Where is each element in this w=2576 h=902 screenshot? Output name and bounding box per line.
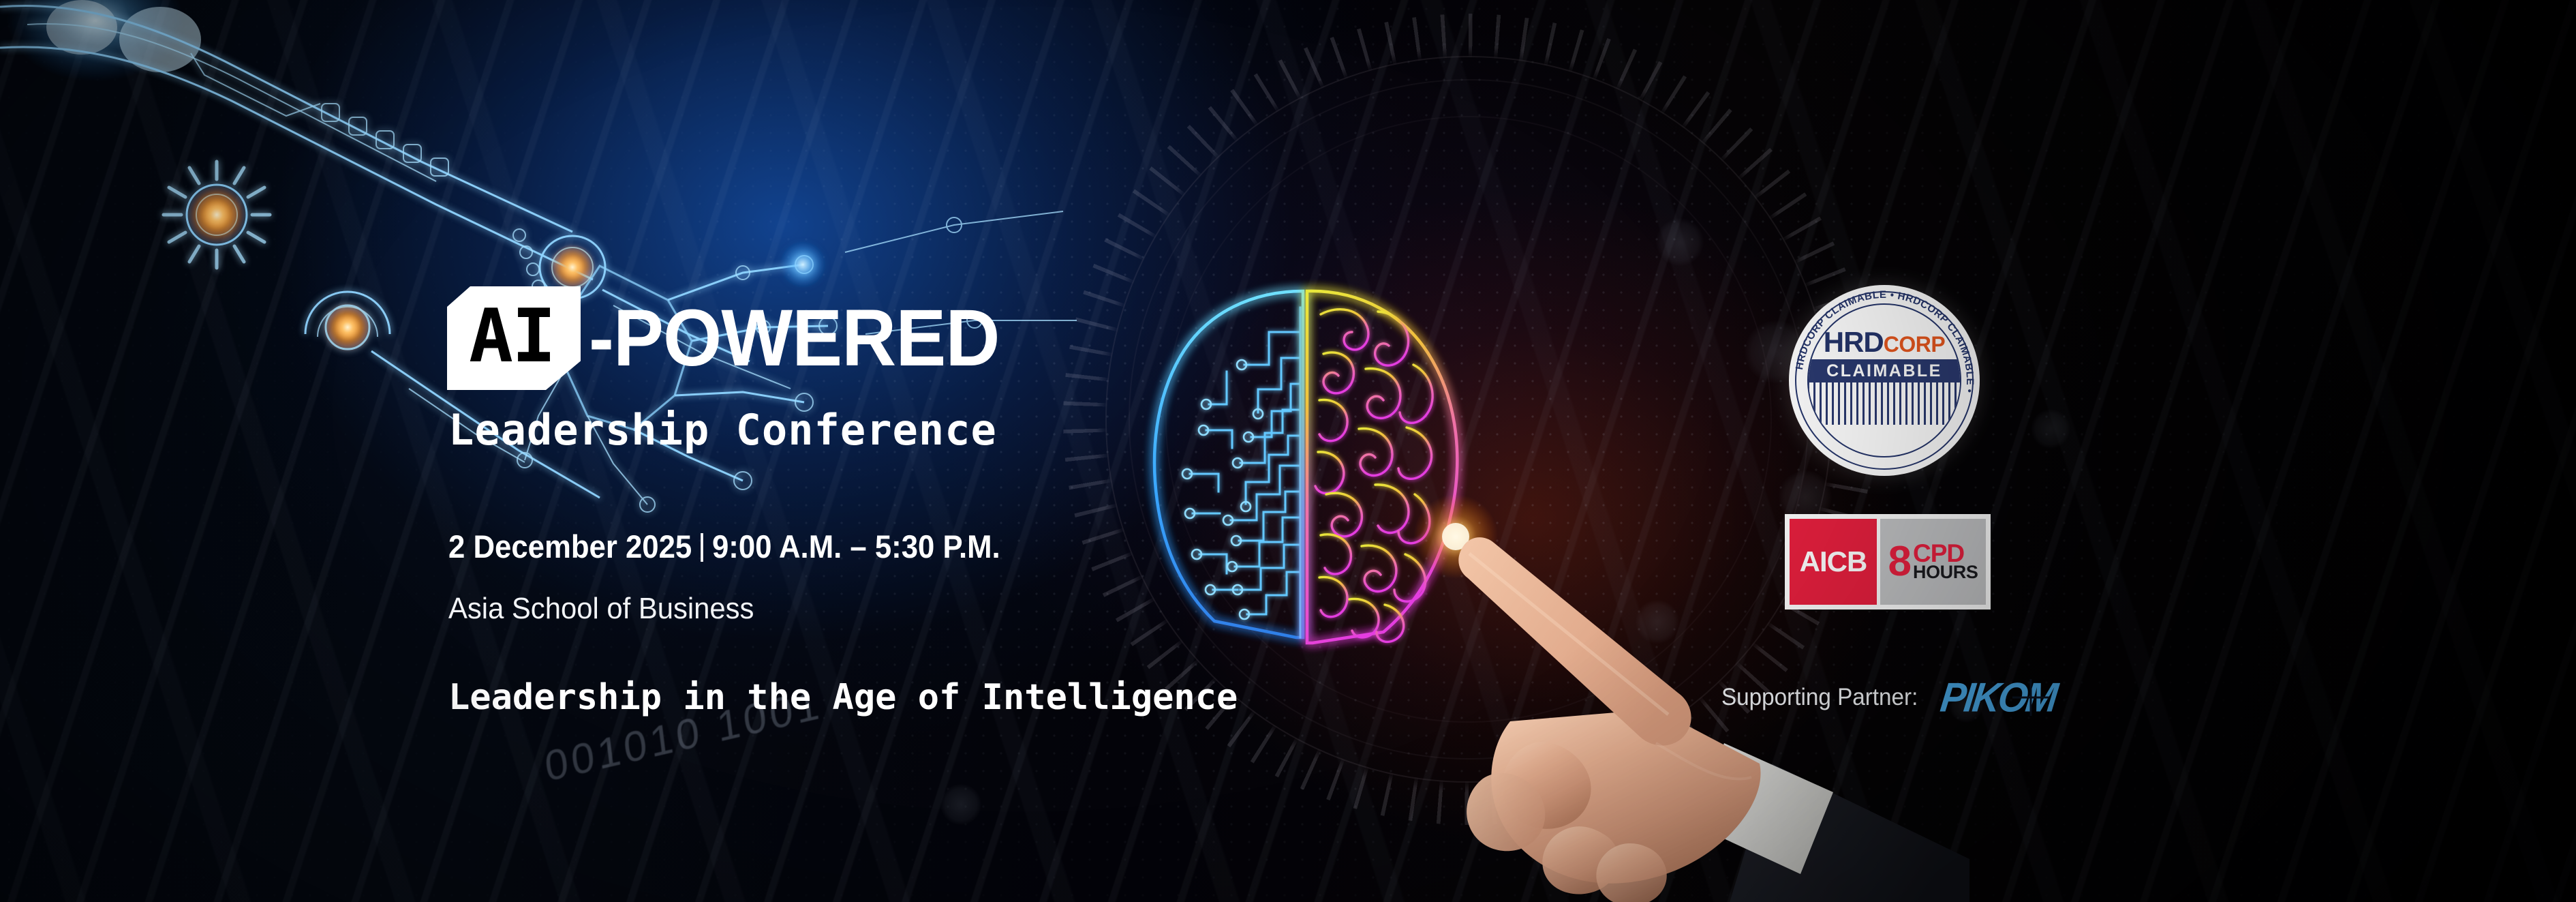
event-date: 2 December 2025 — [448, 528, 692, 565]
hrd-inner-disc: HRDCORP CLAIMABLE — [1807, 303, 1961, 457]
cpd-hours-label: HOURS — [1913, 565, 1978, 580]
hrd-word-claimable: CLAIMABLE — [1826, 361, 1942, 381]
ai-powered-leadership-conference-banner: 001010 1001 — [0, 0, 2576, 902]
aicb-org-text: AICB — [1800, 545, 1867, 578]
pikom-logo: PIKOM — [1941, 678, 2056, 717]
ai-logo-badge: AI — [447, 286, 581, 390]
supporting-partner-label: Supporting Partner: — [1721, 684, 1918, 711]
datetime-separator — [701, 533, 703, 562]
headline-subtitle: Leadership Conference — [448, 409, 1401, 451]
cpd-wrap: 8 CPD HOURS — [1888, 543, 1978, 580]
cpd-hours-panel: 8 CPD HOURS — [1880, 519, 1986, 605]
aicb-cpd-badge: AICB 8 CPD HOURS — [1785, 514, 1991, 610]
cpd-text-stack: CPD HOURS — [1913, 543, 1978, 580]
hrd-word-hrd: HRD — [1824, 326, 1884, 358]
event-time: 9:00 A.M. – 5:30 P.M. — [712, 528, 1000, 565]
hrd-word-corp: CORP — [1884, 332, 1945, 357]
hrdcorp-claimable-badge: HRDCORP CLAIMABLE • HRDCORP CLAIMABLE • … — [1789, 285, 1980, 476]
event-venue: Asia School of Business — [448, 594, 1353, 624]
ai-badge-text: AI — [469, 300, 555, 374]
headline-powered: -POWERED — [589, 298, 1000, 378]
hrd-claimable-bar: CLAIMABLE — [1807, 359, 1961, 382]
event-tagline: Leadership in the Age of Intelligence — [448, 680, 1401, 715]
cpd-hours-number: 8 — [1888, 544, 1912, 580]
supporting-partner-row: Supporting Partner: PIKOM — [1721, 678, 2055, 717]
hrd-stripes-pattern — [1807, 382, 1961, 425]
headline-row: AI -POWERED — [447, 286, 1401, 390]
event-datetime: 2 December 20259:00 A.M. – 5:30 P.M. — [448, 530, 1334, 562]
hrd-wordmark: HRDCORP — [1809, 328, 1960, 357]
pikom-logo-text: PIKOM — [1938, 677, 2058, 718]
aicb-logo-panel: AICB — [1790, 519, 1877, 605]
headline-copy-block: AI -POWERED Leadership Conference 2 Dece… — [447, 286, 1401, 715]
